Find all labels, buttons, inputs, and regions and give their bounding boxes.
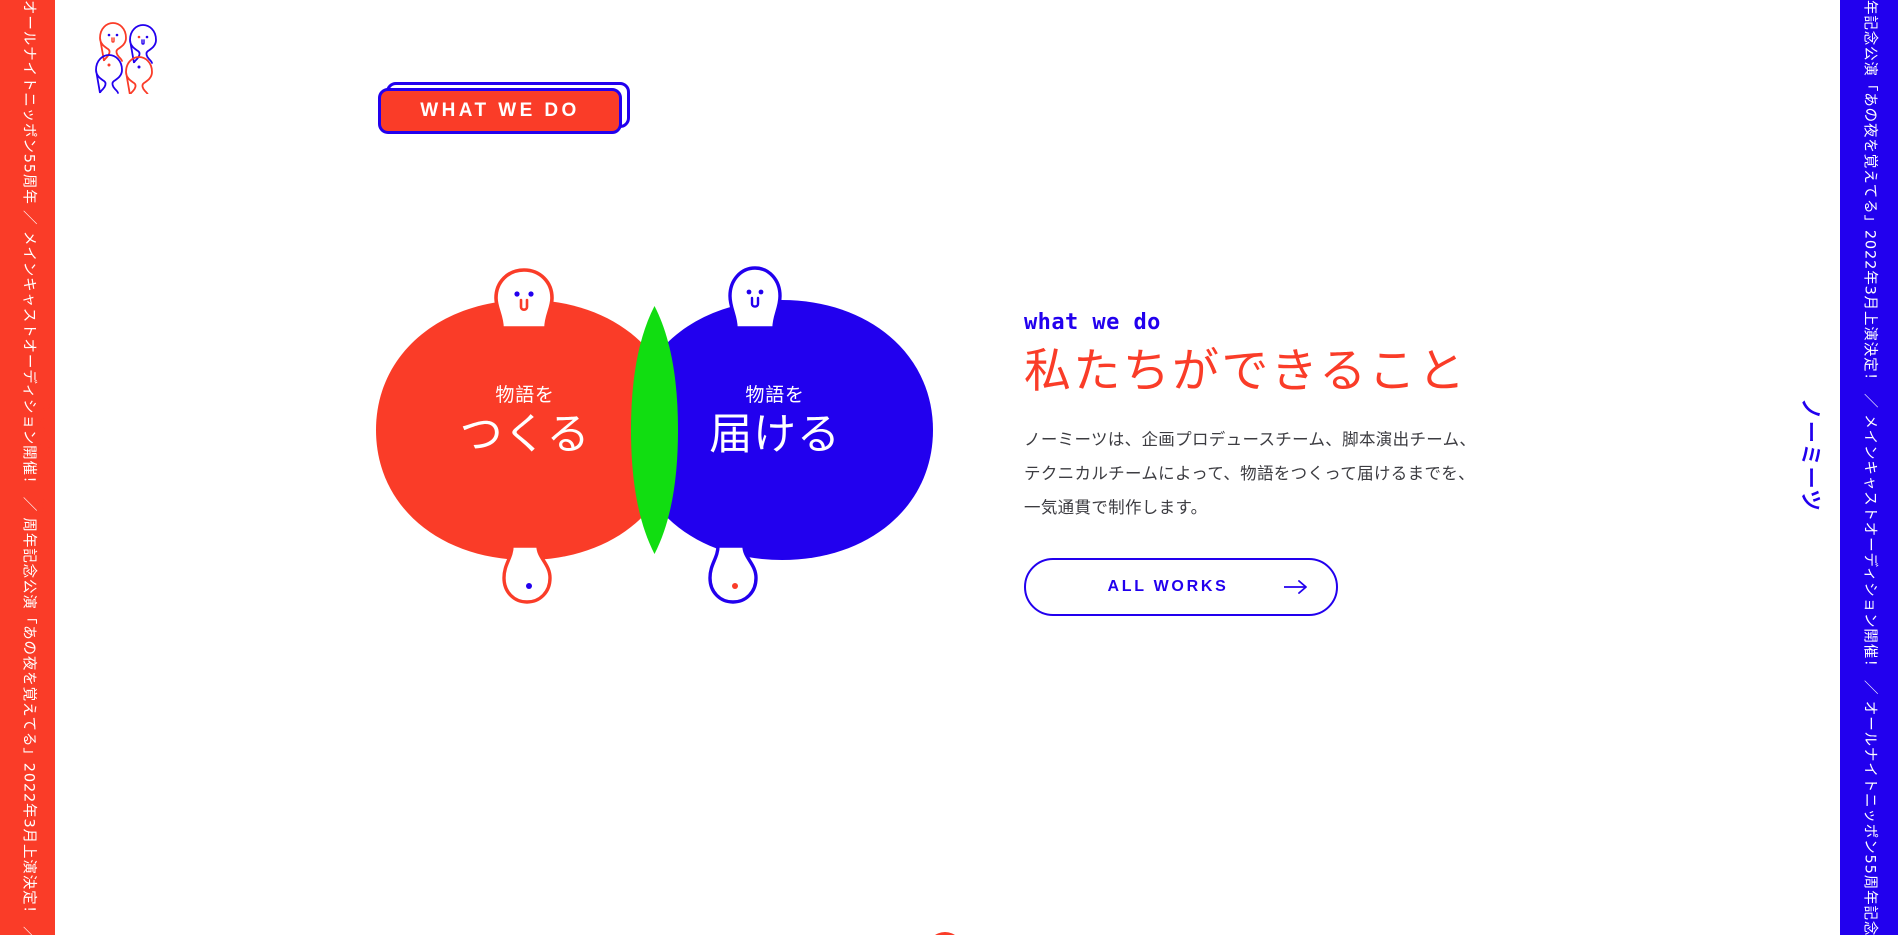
venn-diagram-svg: [372, 258, 952, 718]
venn-right-label-large: 届ける: [660, 413, 890, 458]
mascot-bottom-left-icon: [96, 55, 122, 93]
venn-right-label-small: 物語を: [660, 380, 890, 407]
body-line-3: 一気通貫で制作します。: [1024, 491, 1544, 525]
venn-left-label-large: つくる: [410, 413, 640, 458]
mascot-bottom-right-icon: [126, 57, 152, 94]
all-works-button[interactable]: ALL WORKS: [1024, 558, 1338, 616]
venn-diagram: 物語を つくる 物語を 届ける: [372, 258, 952, 718]
what-we-do-tab-wrapper: WHAT WE DO: [378, 82, 630, 134]
what-we-do-copy-block: what we do 私たちができること ノーミーツは、企画プロデュースチーム、…: [1024, 310, 1544, 616]
section-headline: 私たちができること: [1024, 345, 1544, 399]
brand-label-nomeets: NOMEETS: [34, 400, 58, 514]
body-line-2: テクニカルチームによって、物語をつくって届けるまでを、: [1024, 457, 1544, 491]
ticker-bar-right: 年記念公演「あの夜を覚えてる」2022年3月上演決定！ ／ メインキャストオーデ…: [1840, 0, 1898, 935]
section-kicker: what we do: [1024, 310, 1544, 335]
venn-left-head-icon: [496, 270, 552, 328]
bottom-peek-blob: [925, 922, 965, 935]
body-line-1: ノーミーツは、企画プロデュースチーム、脚本演出チーム、: [1024, 423, 1544, 457]
arrow-right-icon: [1284, 580, 1310, 594]
mascot-cluster: [88, 16, 166, 94]
brand-label-nomeets-katakana: ノーミーツ: [1796, 398, 1828, 512]
section-body: ノーミーツは、企画プロデュースチーム、脚本演出チーム、 テクニカルチームによって…: [1024, 423, 1544, 524]
venn-left-label-small: 物語を: [410, 380, 640, 407]
what-we-do-tab-button[interactable]: WHAT WE DO: [378, 88, 622, 134]
ticker-right-text: 年記念公演「あの夜を覚えてる」2022年3月上演決定！ ／ メインキャストオーデ…: [1862, 0, 1877, 935]
page-root: オールナイトニッポン55周年 ／ メインキャストオーディション開催！ ／ 周年記…: [0, 0, 1898, 935]
venn-left-label: 物語を つくる: [410, 380, 640, 458]
bottom-peek-blob-icon: [925, 922, 965, 935]
ticker-left-text: オールナイトニッポン55周年 ／ メインキャストオーディション開催！ ／ 周年記…: [20, 0, 35, 935]
venn-right-label: 物語を 届ける: [660, 380, 890, 458]
venn-right-head-icon: [730, 268, 780, 328]
mascot-cluster-svg: [88, 16, 166, 94]
